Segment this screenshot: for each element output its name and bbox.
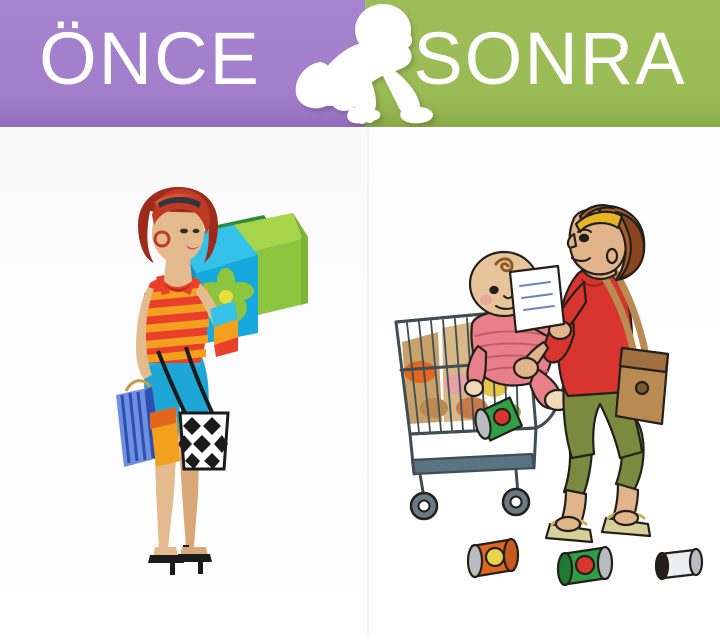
poster-root: ÖNCE SONRA (0, 0, 720, 638)
header-label-after: SONRA (400, 0, 700, 120)
stylish-woman-shopping-illustration (58, 155, 318, 585)
panel-divider (367, 127, 369, 638)
cart-wheels (411, 489, 529, 519)
held-small-item (210, 301, 238, 357)
black-high-heels (148, 545, 212, 575)
panel-before (0, 127, 368, 638)
mother-head (568, 205, 644, 280)
dropped-orange-can (468, 539, 518, 577)
woman-neck (164, 259, 192, 287)
dropped-grey-can (656, 549, 702, 579)
header-banner: ÖNCE SONRA (0, 0, 720, 127)
tired-mother-with-baby-in-cart-illustration (376, 172, 716, 592)
shopping-list-paper (510, 266, 564, 332)
flip-flop-sandals (546, 511, 650, 542)
comparison-panels (0, 127, 720, 638)
header-label-before: ÖNCE (0, 0, 300, 120)
mother-hand-on-handle (514, 358, 538, 378)
dropped-green-can (558, 547, 612, 585)
panel-after (368, 127, 720, 638)
